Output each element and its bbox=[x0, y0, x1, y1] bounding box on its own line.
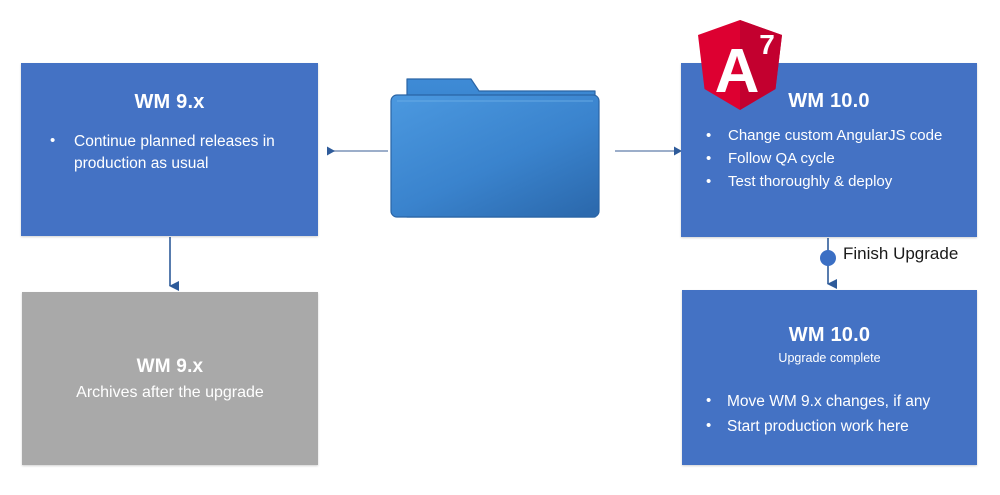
box-wm9-active-title: WM 9.x bbox=[35, 91, 304, 114]
box-wm10-upgrade-bullets: Change custom AngularJS code Follow QA c… bbox=[691, 125, 967, 193]
folder-front bbox=[391, 95, 599, 217]
list-item: Move WM 9.x changes, if any bbox=[701, 389, 967, 414]
box-wm10-complete-bullets: Move WM 9.x changes, if any Start produc… bbox=[692, 389, 967, 439]
milestone-dot bbox=[820, 250, 836, 266]
list-item: Test thoroughly & deploy bbox=[700, 171, 967, 194]
angular-letter: A bbox=[715, 37, 760, 106]
list-item: Continue planned releases in production … bbox=[44, 131, 304, 175]
box-wm10-complete-subtitle: Upgrade complete bbox=[692, 351, 967, 365]
box-wm10-complete-title: WM 10.0 bbox=[692, 324, 967, 347]
box-wm9-archive-title: WM 9.x bbox=[36, 356, 304, 378]
angular-version: 7 bbox=[759, 29, 775, 60]
box-wm10-complete[interactable]: WM 10.0 Upgrade complete Move WM 9.x cha… bbox=[682, 290, 977, 465]
list-item: Change custom AngularJS code bbox=[700, 125, 967, 148]
box-wm9-archive[interactable]: WM 9.x Archives after the upgrade bbox=[22, 292, 318, 465]
finish-upgrade-label: Finish Upgrade bbox=[843, 244, 958, 264]
box-wm9-archive-subtitle: Archives after the upgrade bbox=[36, 384, 304, 402]
list-item: Follow QA cycle bbox=[700, 148, 967, 171]
folder-icon bbox=[383, 57, 615, 237]
box-wm9-active-bullets: Continue planned releases in production … bbox=[35, 131, 304, 175]
diagram-canvas: WM 9.x Continue planned releases in prod… bbox=[0, 0, 1000, 495]
angular-shield-icon: A 7 bbox=[694, 18, 786, 114]
box-wm9-active[interactable]: WM 9.x Continue planned releases in prod… bbox=[21, 63, 318, 236]
list-item: Start production work here bbox=[701, 414, 967, 439]
